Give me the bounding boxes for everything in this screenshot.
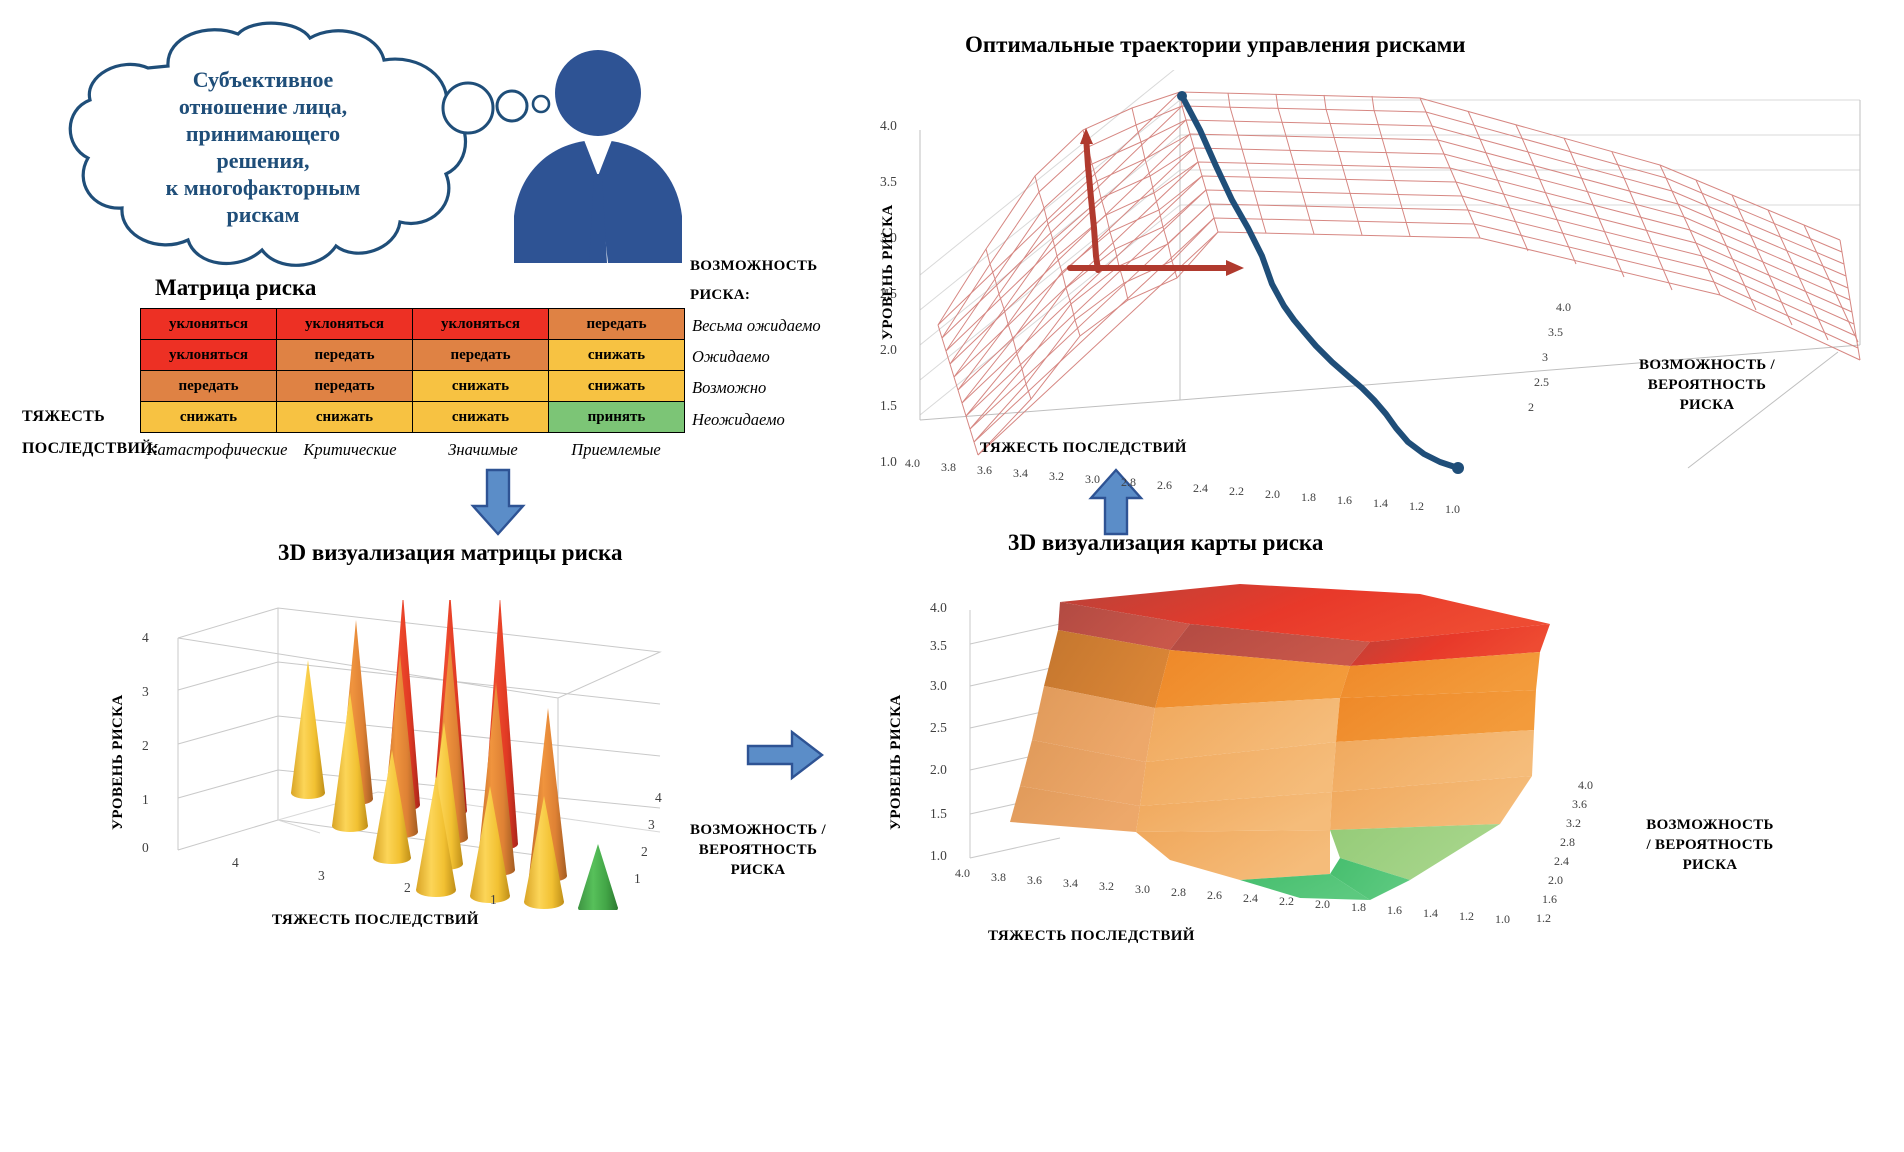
matrix-row-header: Возможно	[692, 378, 766, 398]
risk-matrix-table: уклоняться уклоняться уклоняться передат…	[140, 308, 685, 433]
surface-x-tick: 3.4	[1063, 876, 1078, 891]
surface-y-tick: 3.5	[930, 638, 947, 654]
surface-z-axis-title-line1: ВОЗМОЖНОСТЬ	[1610, 815, 1810, 835]
matrix-cell[interactable]: передать	[413, 340, 549, 371]
cone-y-tick: 3	[142, 684, 149, 700]
trajectory-x-tick: 2.6	[1157, 478, 1172, 493]
surface-z-tick: 2.0	[1548, 873, 1563, 888]
surface-x-tick: 1.8	[1351, 900, 1366, 915]
cloud-line-4: решения,	[118, 147, 408, 174]
trajectory-x-tick: 3.4	[1013, 466, 1028, 481]
surface-y-tick: 2.0	[930, 762, 947, 778]
surface-y-tick: 2.5	[930, 720, 947, 736]
cone-x-tick: 3	[318, 868, 325, 884]
surface-x-tick: 2.8	[1171, 885, 1186, 900]
matrix-title: Матрица риска	[155, 275, 316, 301]
trajectory-y-tick: 4.0	[880, 118, 897, 134]
surface-x-tick: 3.0	[1135, 882, 1150, 897]
trajectory-chart-title: Оптимальные траектории управления рискам…	[965, 32, 1466, 58]
matrix-cell[interactable]: уклоняться	[141, 309, 277, 340]
surface-x-tick: 1.6	[1387, 903, 1402, 918]
cone-x-tick: 2	[404, 880, 411, 896]
severity-axis-label-line1: ТЯЖЕСТЬ	[22, 408, 105, 426]
possibility-axis-label-line2: РИСКА:	[690, 287, 750, 304]
trajectory-x-tick: 2.8	[1121, 475, 1136, 490]
cone-y-tick: 2	[142, 738, 149, 754]
cone-chart-title: 3D визуализация матрицы риска	[278, 540, 622, 566]
trajectory-chart[interactable]: 4.0 3.5 3.0 2.5 2.0 1.5 1.0	[880, 70, 1890, 490]
trajectory-x-axis-title: ТЯЖЕСТЬ ПОСЛЕДСТВИЙ	[980, 440, 1187, 457]
surface-x-tick: 1.0	[1495, 912, 1510, 927]
surface-y-tick: 3.0	[930, 678, 947, 694]
surface-mesh	[1010, 584, 1550, 900]
trajectory-y-tick: 1.5	[880, 398, 897, 414]
cloud-line-5: к многофакторным	[118, 174, 408, 201]
matrix-row-header: Неожидаемо	[692, 410, 785, 430]
trajectory-x-tick: 1.8	[1301, 490, 1316, 505]
cone-z-tick: 3	[648, 817, 655, 833]
surface-chart-title: 3D визуализация карты риска	[1008, 530, 1323, 556]
surface-z-tick: 1.6	[1542, 892, 1557, 907]
trajectory-z-tick: 2.5	[1534, 375, 1549, 390]
severity-axis-label-line2: ПОСЛЕДСТВИЙ:	[22, 440, 159, 458]
trajectory-x-tick: 2.4	[1193, 481, 1208, 496]
trajectory-chart-plot	[880, 70, 1890, 490]
person-avatar-icon	[498, 48, 698, 263]
matrix-cell[interactable]: уклоняться	[413, 309, 549, 340]
surface-y-tick: 1.5	[930, 806, 947, 822]
trajectory-y-tick: 1.0	[880, 454, 897, 470]
trajectory-z-axis-title-line3: РИСКА	[1602, 395, 1812, 415]
matrix-column-header: Приемлемые	[541, 440, 691, 460]
trajectory-x-tick: 4.0	[905, 456, 920, 471]
matrix-cell[interactable]: уклоняться	[141, 340, 277, 371]
surface-y-tick: 1.0	[930, 848, 947, 864]
cone-x-tick: 4	[232, 855, 239, 871]
cone-y-tick: 1	[142, 792, 149, 808]
trajectory-x-tick: 3.8	[941, 460, 956, 475]
surface-z-tick: 3.6	[1572, 797, 1587, 812]
matrix-cell[interactable]: уклоняться	[277, 309, 413, 340]
surface-z-axis-title-line2: / ВЕРОЯТНОСТЬ	[1610, 835, 1810, 855]
surface-y-axis-title: УРОВЕНЬ РИСКА	[888, 670, 905, 830]
surface-x-axis-title: ТЯЖЕСТЬ ПОСЛЕДСТВИЙ	[988, 928, 1195, 945]
trajectory-blue-line	[1182, 96, 1458, 468]
cone-y-axis-title: УРОВЕНЬ РИСКА	[110, 680, 127, 830]
trajectory-z-tick: 2	[1528, 400, 1534, 415]
cone-x-axis-title: ТЯЖЕСТЬ ПОСЛЕДСТВИЙ	[272, 912, 479, 929]
trajectory-z-tick: 3	[1542, 350, 1548, 365]
trajectory-z-axis-title-line1: ВОЗМОЖНОСТЬ /	[1602, 355, 1812, 375]
matrix-cell[interactable]: передать	[277, 371, 413, 402]
surface-x-tick: 2.4	[1243, 891, 1258, 906]
trajectory-z-tick: 4.0	[1556, 300, 1571, 315]
surface-x-tick: 4.0	[955, 866, 970, 881]
surface-chart[interactable]: 4.0 3.5 3.0 2.5 2.0 1.5 1.0	[940, 580, 1640, 910]
matrix-column-header: Критические	[275, 440, 425, 460]
trajectory-x-tick: 2.2	[1229, 484, 1244, 499]
matrix-cell[interactable]: передать	[141, 371, 277, 402]
matrix-cell[interactable]: снижать	[277, 402, 413, 433]
trajectory-z-tick: 3.5	[1548, 325, 1563, 340]
surface-y-tick: 4.0	[930, 600, 947, 616]
trajectory-y-axis-title: УРОВЕНЬ РИСКА	[880, 180, 897, 340]
surface-x-tick: 1.2	[1459, 909, 1474, 924]
surface-z-tick: 2.4	[1554, 854, 1569, 869]
cone-y-tick: 4	[142, 630, 149, 646]
cloud-line-3: принимающего	[118, 120, 408, 147]
trajectory-x-tick: 1.0	[1445, 502, 1460, 517]
trajectory-x-tick: 3.0	[1085, 472, 1100, 487]
trajectory-y-tick: 2.0	[880, 342, 897, 358]
matrix-column-header: Катастрофические	[142, 440, 292, 460]
thought-cloud: Субъективное отношение лица, принимающег…	[48, 18, 478, 286]
matrix-cell[interactable]: снижать	[413, 402, 549, 433]
thought-cloud-text: Субъективное отношение лица, принимающег…	[118, 66, 408, 228]
surface-x-tick: 2.0	[1315, 897, 1330, 912]
table-row: уклоняться уклоняться уклоняться передат…	[141, 309, 685, 340]
table-row: уклоняться передать передать снижать	[141, 340, 685, 371]
trajectory-x-tick: 1.4	[1373, 496, 1388, 511]
cloud-line-2: отношение лица,	[118, 93, 408, 120]
matrix-cell[interactable]: снижать	[413, 371, 549, 402]
cloud-line-6: рискам	[118, 201, 408, 228]
matrix-row-header: Ожидаемо	[692, 347, 770, 367]
surface-z-axis-title-line3: РИСКА	[1610, 855, 1810, 875]
cone-x-tick: 1	[490, 892, 497, 908]
possibility-axis-label-line1: ВОЗМОЖНОСТЬ	[690, 258, 817, 275]
matrix-cell[interactable]: снижать	[549, 371, 685, 402]
matrix-cell[interactable]: передать	[277, 340, 413, 371]
cone-y-tick: 0	[142, 840, 149, 856]
matrix-column-header: Значимые	[408, 440, 558, 460]
trajectory-x-tick: 3.2	[1049, 469, 1064, 484]
arrow-down-to-cone-chart	[470, 468, 526, 538]
surface-z-tick: 1.2	[1536, 911, 1551, 926]
cone-z-tick: 4	[655, 790, 662, 806]
surface-z-tick: 2.8	[1560, 835, 1575, 850]
trajectory-z-axis-title-line2: ВЕРОЯТНОСТЬ	[1602, 375, 1812, 395]
arrow-right-to-surface-chart	[746, 728, 824, 782]
matrix-cell[interactable]: принять	[549, 402, 685, 433]
surface-x-tick: 2.2	[1279, 894, 1294, 909]
surface-chart-plot	[940, 580, 1640, 910]
surface-x-tick: 3.2	[1099, 879, 1114, 894]
table-row: снижать снижать снижать принять	[141, 402, 685, 433]
matrix-cell[interactable]: передать	[549, 309, 685, 340]
surface-x-tick: 3.8	[991, 870, 1006, 885]
surface-x-tick: 1.4	[1423, 906, 1438, 921]
matrix-cell[interactable]: снижать	[549, 340, 685, 371]
trajectory-x-tick: 2.0	[1265, 487, 1280, 502]
cone-z-axis-title-line2: ВЕРОЯТНОСТЬ	[668, 840, 848, 860]
trajectory-x-tick: 1.6	[1337, 493, 1352, 508]
surface-z-tick: 4.0	[1578, 778, 1593, 793]
trajectory-x-tick: 1.2	[1409, 499, 1424, 514]
cone-z-tick: 1	[634, 871, 641, 887]
trajectory-x-tick: 3.6	[977, 463, 992, 478]
surface-x-tick: 3.6	[1027, 873, 1042, 888]
cone-z-tick: 2	[641, 844, 648, 860]
matrix-cell[interactable]: снижать	[141, 402, 277, 433]
cloud-line-1: Субъективное	[118, 66, 408, 93]
surface-x-tick: 2.6	[1207, 888, 1222, 903]
matrix-row-header: Весьма ожидаемо	[692, 316, 821, 336]
cone-z-axis-title-line1: ВОЗМОЖНОСТЬ /	[668, 820, 848, 840]
surface-z-tick: 3.2	[1566, 816, 1581, 831]
cone-z-axis-title-line3: РИСКА	[668, 860, 848, 880]
table-row: передать передать снижать снижать	[141, 371, 685, 402]
